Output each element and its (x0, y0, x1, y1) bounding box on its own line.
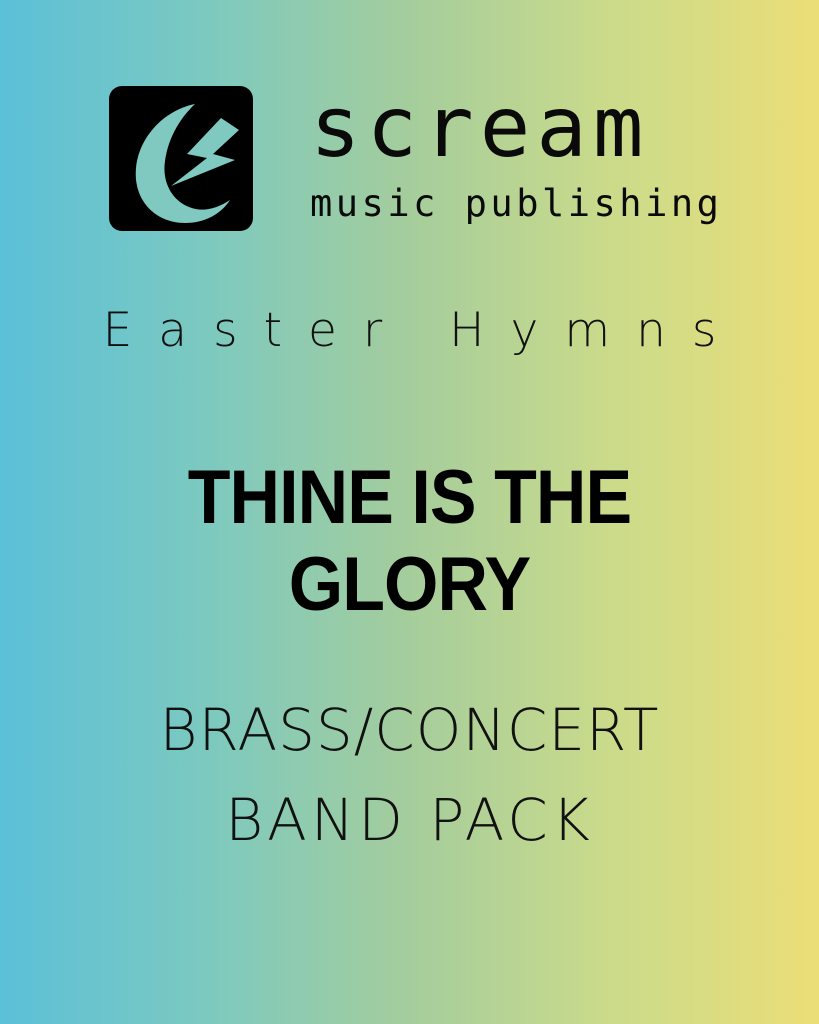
work-title-line-1: THINE IS THE (33, 455, 786, 542)
work-title: THINE IS THE GLORY (33, 455, 786, 628)
brand-name: scream (310, 88, 722, 168)
crescent-moon-lightning-bolt-icon (109, 86, 253, 231)
brand-wordmark-group: scream music publishing (310, 86, 722, 224)
pack-label: BRASS/CONCERT BAND PACK (0, 686, 819, 866)
brand-lockup: scream music publishing (109, 86, 729, 231)
brand-row: scream music publishing (109, 86, 729, 231)
scream-logo-mark (109, 86, 253, 231)
brand-tagline: music publishing (310, 184, 722, 225)
pack-label-line-2: BAND PACK (0, 776, 819, 866)
series-name: Easter Hymns (0, 303, 819, 358)
cover-artwork: scream music publishing Easter Hymns THI… (0, 0, 819, 1024)
work-title-line-2: GLORY (33, 542, 786, 629)
pack-label-line-1: BRASS/CONCERT (0, 686, 819, 776)
